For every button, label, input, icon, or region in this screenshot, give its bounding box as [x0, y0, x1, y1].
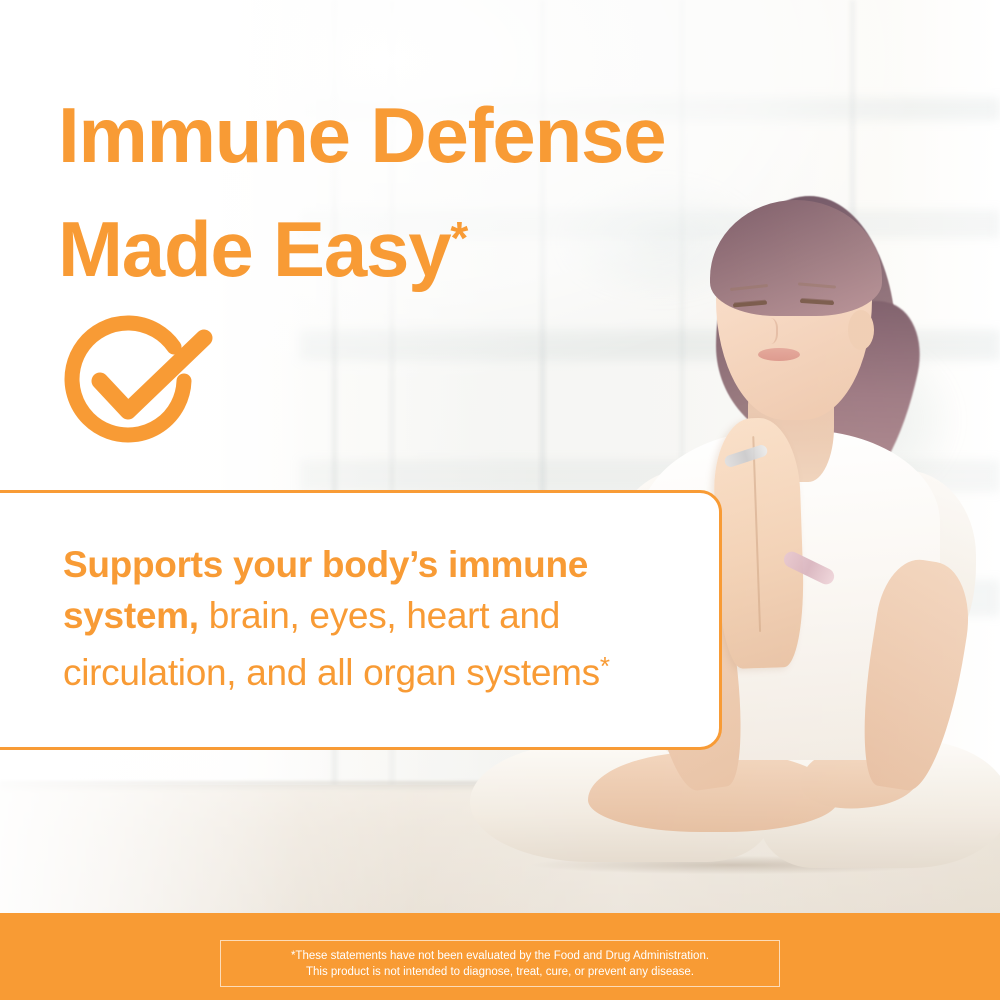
headline-footnote-marker: * — [450, 212, 468, 264]
footer-bar: *These statements have not been evaluate… — [0, 913, 1000, 1000]
page-title: Immune DefenseMade Easy* — [58, 84, 938, 301]
headline-line1: Immune Defense — [58, 91, 665, 179]
benefits-footnote-marker: * — [600, 651, 610, 681]
benefits-callout-card: Supports your body’s immune system, brai… — [0, 490, 722, 750]
lips — [758, 348, 800, 361]
disclaimer-line1: *These statements have not been evaluate… — [291, 950, 709, 962]
benefits-text: Supports your body’s immune system, brai… — [63, 539, 703, 698]
disclaimer-box: *These statements have not been evaluate… — [220, 940, 780, 987]
check-circle-icon — [56, 303, 216, 453]
ear — [848, 310, 874, 350]
headline-line2: Made Easy — [58, 205, 450, 293]
marketing-banner: Immune DefenseMade Easy* Supports your b… — [0, 0, 1000, 1000]
nose — [760, 318, 778, 344]
disclaimer-line2: This product is not intended to diagnose… — [306, 966, 694, 978]
disclaimer-text: *These statements have not been evaluate… — [283, 948, 717, 980]
